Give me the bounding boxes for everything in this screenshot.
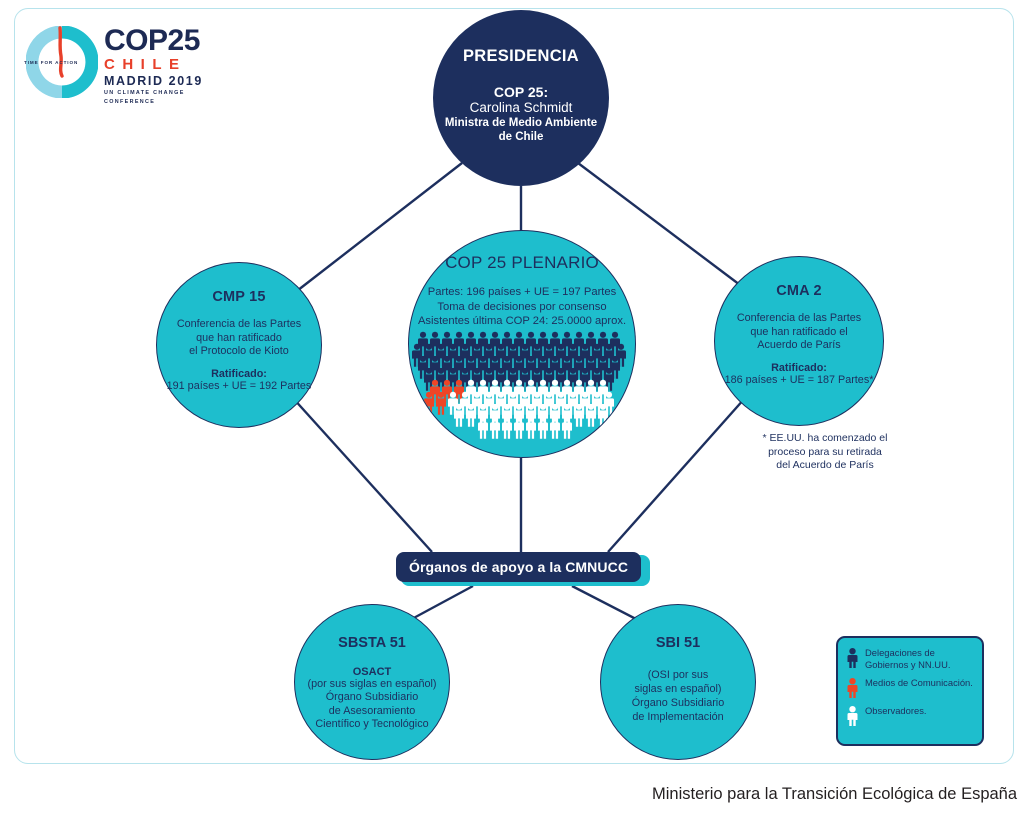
legend-item-medios: Medios de Comunicación.	[846, 677, 974, 698]
support-bodies-banner[interactable]: Órganos de apoyo a la CMNUCC	[396, 552, 641, 582]
sbi-body-line4: de Implementación	[632, 710, 724, 724]
sbi-body-line3: Órgano Subsidiario	[632, 696, 724, 710]
cma-title: CMA 2	[776, 283, 822, 299]
sbsta-title: SBSTA 51	[338, 635, 406, 651]
sbsta-body-line1: (por sus siglas en español)	[307, 678, 436, 691]
logo-cop25-text: COP25	[104, 26, 222, 56]
legend-label-delegaciones: Delegaciones de Gobiernos y NN.UU.	[865, 647, 974, 670]
cma-footnote: * EE.UU. ha comenzado el proceso para su…	[740, 432, 910, 473]
legend-box: Delegaciones de Gobiernos y NN.UU. Medio…	[836, 636, 984, 746]
cma-body-line3: Acuerdo de París	[737, 339, 861, 353]
person-icon-navy	[846, 648, 859, 668]
cma-body-line2: que han ratificado el	[737, 326, 861, 340]
node-cmp-15[interactable]: CMP 15 Conferencia de las Partes que han…	[156, 262, 322, 428]
presidency-role-line2: de Chile	[499, 130, 544, 144]
support-bodies-banner-wrap: Órganos de apoyo a la CMNUCC	[396, 552, 650, 586]
logo-chile-text: CHILE	[104, 56, 222, 74]
cma-ratified-value: 186 países + UE = 187 Partes*	[725, 374, 874, 388]
logo-madrid-text: MADRID 2019	[104, 74, 222, 89]
presidency-label: COP 25:	[494, 84, 548, 100]
legend-label-medios: Medios de Comunicación.	[865, 677, 973, 689]
crowd-pictogram	[409, 329, 636, 449]
node-sbi-51[interactable]: SBI 51 (OSI por sus siglas en español) Ó…	[600, 604, 756, 760]
sbi-body-line2: siglas en español)	[632, 682, 724, 696]
plenary-line1: Partes: 196 países + UE = 197 Partes	[418, 285, 626, 300]
person-icon-white	[846, 706, 859, 726]
node-presidencia[interactable]: PRESIDENCIA COP 25: Carolina Schmidt Min…	[433, 10, 609, 186]
legend-item-delegaciones: Delegaciones de Gobiernos y NN.UU.	[846, 647, 974, 670]
footnote-line1: * EE.UU. ha comenzado el	[740, 432, 910, 446]
sbi-body: (OSI por sus siglas en español) Órgano S…	[632, 668, 724, 724]
cmp-title: CMP 15	[212, 289, 265, 305]
cmp-ratified-value: 191 países + UE = 192 Partes	[167, 380, 312, 394]
node-sbsta-51[interactable]: SBSTA 51 OSACT (por sus siglas en españo…	[294, 604, 450, 760]
sbsta-body-line4: Científico y Tecnológico	[307, 718, 436, 731]
presidency-name: Carolina Schmidt	[470, 100, 573, 116]
footer-ministry-text: Ministerio para la Transición Ecológica …	[652, 785, 1017, 804]
legend-item-observadores: Observadores.	[846, 705, 974, 726]
plenary-line3: Asistentes última COP 24: 25.0000 aprox.	[418, 314, 626, 329]
sbsta-body-line3: de Asesoramiento	[307, 705, 436, 718]
logo-wordmark: COP25 CHILE MADRID 2019 UN CLIMATE CHANG…	[104, 26, 222, 107]
plenary-title: COP 25 PLENARIO	[445, 253, 599, 273]
plenary-body: Partes: 196 países + UE = 197 Partes Tom…	[418, 285, 626, 329]
cmp-body: Conferencia de las Partes que han ratifi…	[177, 318, 301, 359]
logo-unfccc-text: UN CLIMATE CHANGE CONFERENCE	[104, 89, 222, 107]
cma-body: Conferencia de las Partes que han ratifi…	[737, 312, 861, 353]
cmp-body-line3: el Protocolo de Kioto	[177, 345, 301, 359]
cma-body-line1: Conferencia de las Partes	[737, 312, 861, 326]
person-icon-red	[846, 678, 859, 698]
footnote-line2: proceso para su retirada	[740, 446, 910, 460]
footnote-line3: del Acuerdo de París	[740, 459, 910, 473]
node-cma-2[interactable]: CMA 2 Conferencia de las Partes que han …	[714, 256, 884, 426]
cma-ratified-label: Ratificado:	[771, 362, 827, 374]
sbi-body-line1: (OSI por sus	[632, 668, 724, 682]
sbsta-body: (por sus siglas en español) Órgano Subsi…	[307, 678, 436, 732]
cmp-body-line1: Conferencia de las Partes	[177, 318, 301, 332]
cmp-ratified-label: Ratificado:	[211, 368, 267, 380]
presidency-title: PRESIDENCIA	[463, 47, 579, 66]
sbsta-acronym: OSACT	[353, 666, 392, 678]
diagram-canvas: TIME FOR ACTION COP25 CHILE MADRID 2019 …	[0, 0, 1030, 816]
cmp-body-line2: que han ratificado	[177, 332, 301, 346]
sbsta-body-line2: Órgano Subsidiario	[307, 691, 436, 704]
sbi-title: SBI 51	[656, 635, 700, 651]
node-cop25-plenario[interactable]: COP 25 PLENARIO Partes: 196 países + UE …	[408, 230, 636, 458]
legend-label-observadores: Observadores.	[865, 705, 927, 717]
plenary-line2: Toma de decisiones por consenso	[418, 300, 626, 315]
presidency-role-line1: Ministra de Medio Ambiente	[445, 116, 597, 130]
cop25-logo: TIME FOR ACTION COP25 CHILE MADRID 2019 …	[22, 22, 222, 106]
logo-tagline: TIME FOR ACTION	[24, 60, 78, 65]
